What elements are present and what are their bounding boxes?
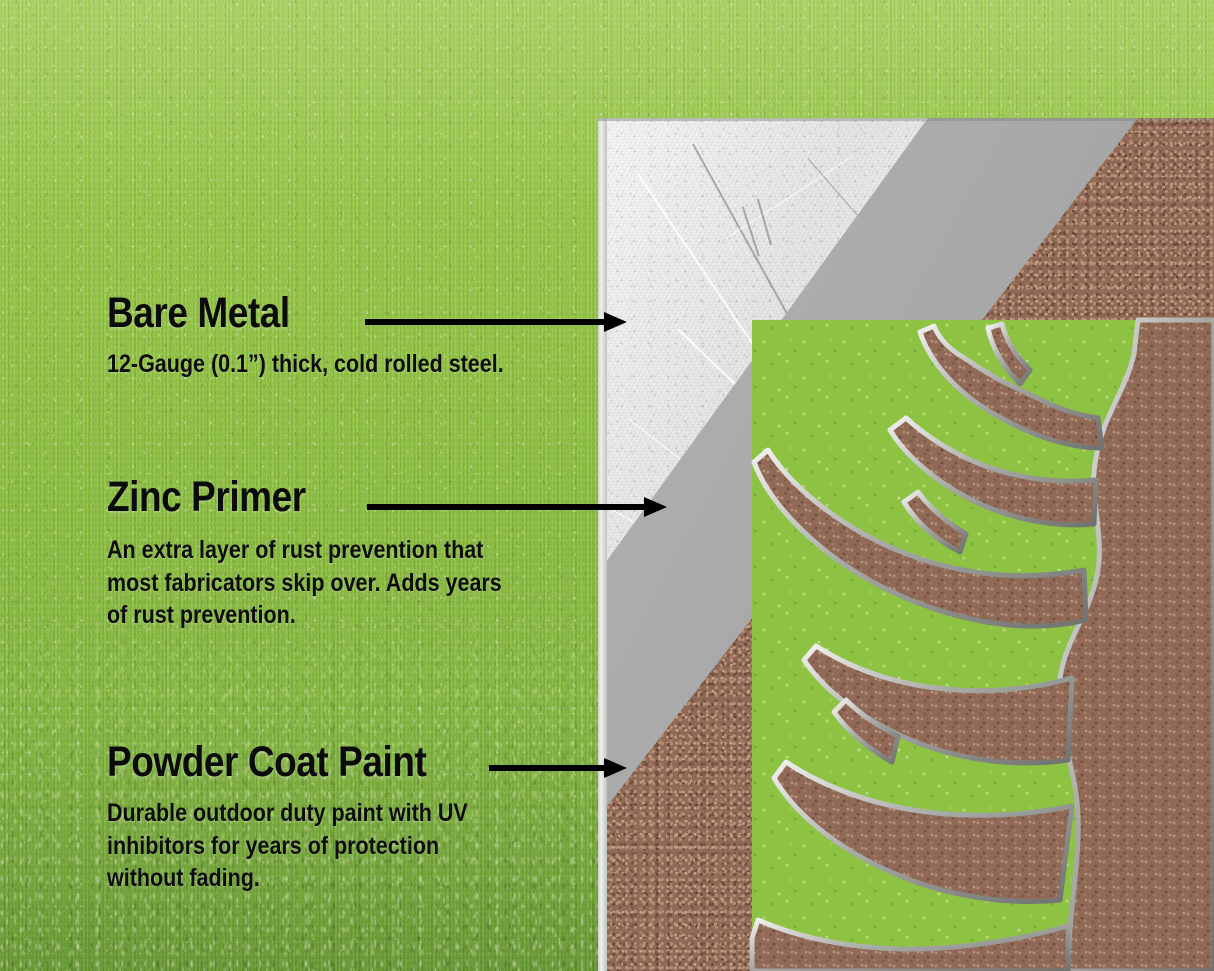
callout-title-powder-coat-paint: Powder Coat Paint	[107, 742, 468, 783]
callout-powder-coat-paint: Powder Coat Paint Durable outdoor duty p…	[107, 742, 526, 895]
arrow-shaft	[365, 319, 606, 325]
arrow-shaft	[489, 765, 606, 771]
callout-body-bare-metal: 12-Gauge (0.1”) thick, cold rolled steel…	[107, 348, 504, 381]
arrow-head	[604, 312, 627, 332]
arrow-head	[644, 497, 667, 517]
sheet-top-cut-edge	[598, 118, 1214, 121]
metal-art-panel	[598, 118, 1214, 971]
arrow-bare-metal	[365, 314, 627, 330]
arrow-zinc-primer	[367, 499, 667, 515]
callout-bare-metal: Bare Metal 12-Gauge (0.1”) thick, cold r…	[107, 293, 568, 381]
sheet-left-cut-edge	[598, 118, 607, 971]
arrow-head	[604, 758, 627, 778]
arrow-powder-coat	[489, 760, 627, 776]
infographic-canvas: Bare Metal 12-Gauge (0.1”) thick, cold r…	[0, 0, 1214, 971]
callout-body-zinc-primer: An extra layer of rust prevention that m…	[107, 534, 502, 632]
sunburst-artwork-svg	[598, 118, 1214, 971]
callout-body-powder-coat-paint: Durable outdoor duty paint with UV inhib…	[107, 797, 468, 895]
arrow-shaft	[367, 504, 646, 510]
